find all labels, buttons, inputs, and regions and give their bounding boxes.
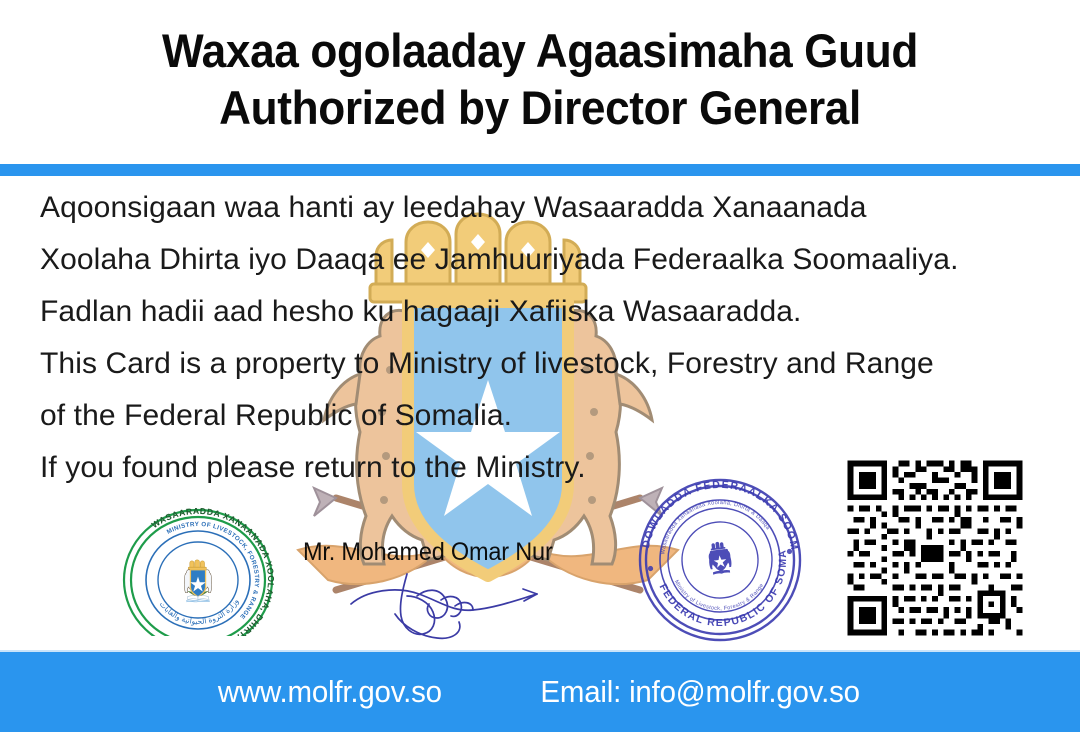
footer-website[interactable]: www.molfr.gov.so [218, 673, 442, 711]
signer-name: Mr. Mohamed Omar Nur [303, 537, 553, 567]
card-header: Waxaa ogolaaday Agaasimaha Guud Authoriz… [0, 22, 1080, 136]
body-line: Aqoonsigaan waa hanti ay leedahay Wasaar… [40, 182, 1060, 234]
federal-republic-seal-blue: DOWLADDA FEDERAALKA SOOMAALIYA FEDERAL R… [632, 472, 808, 644]
footer-email[interactable]: Email: info@molfr.gov.so [540, 673, 859, 711]
header-title-somali: Waxaa ogolaaday Agaasimaha Guud [32, 22, 1047, 79]
body-line: Fadlan hadii aad hesho ku hagaaji Xafiis… [40, 286, 1060, 338]
signature-mark-icon [345, 566, 565, 640]
qr-code[interactable] [842, 455, 1028, 641]
id-card-back: Waxaa ogolaaday Agaasimaha Guud Authoriz… [0, 0, 1080, 732]
header-divider-bar [0, 164, 1080, 176]
footer-contact: www.molfr.gov.so Email: info@molfr.gov.s… [0, 652, 1080, 732]
body-line: of the Federal Republic of Somalia. [40, 390, 1060, 442]
body-line: Xoolaha Dhirta iyo Daaqa ee Jamhuuriyada… [40, 234, 1060, 286]
ministry-seal-green: WASAARADDA XANAANADA XOOLAHA, DHIRTA IYO… [110, 494, 286, 636]
header-title-english: Authorized by Director General [32, 79, 1047, 136]
body-line: This Card is a property to Ministry of l… [40, 338, 1060, 390]
card-body-text: Aqoonsigaan waa hanti ay leedahay Wasaar… [40, 182, 1060, 494]
